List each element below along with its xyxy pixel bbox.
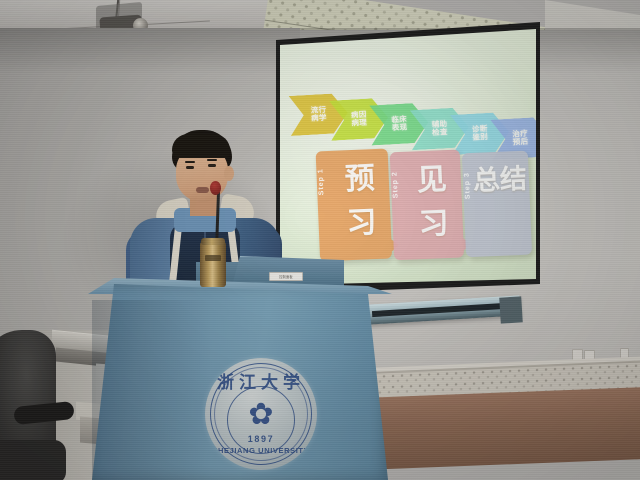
thermos-cap — [201, 238, 225, 245]
speaker-eyebrow-left — [185, 161, 195, 163]
foreground-chair-base — [0, 440, 66, 480]
thermos-band — [205, 255, 221, 261]
process-step-1-line2: 病学 — [311, 113, 327, 123]
step-card-1-title: 预习 — [332, 157, 390, 247]
process-step-2-line2: 病理 — [351, 118, 367, 128]
process-step-3-line2: 表现 — [392, 122, 408, 132]
emblem-founding-year: 1897 — [205, 434, 317, 444]
emblem-bird-icon: ✿ — [239, 400, 283, 434]
speaker-mouth — [196, 187, 209, 193]
step-card-3-label: Step 3 — [463, 151, 472, 199]
podium-shading — [92, 300, 212, 480]
microphone-head — [210, 181, 221, 195]
speaker-eye-right — [208, 164, 216, 167]
step-card-3-title: 总结 — [472, 159, 528, 201]
speaker-eye-left — [186, 166, 194, 169]
university-emblem: 浙江大学 ✿ 1897 ZHEJIANG UNIVERSITY — [205, 358, 317, 470]
emblem-english-name: ZHEJIANG UNIVERSITY — [205, 446, 317, 455]
step-card-2-title: 见习 — [404, 158, 462, 248]
process-step-4-line2: 检查 — [432, 127, 448, 137]
photo-scene: 流行 病学 病因 病理 临床 表现 辅助 检查 诊断 鉴别 — [0, 0, 640, 480]
podium-plate-text: 控制面板 — [279, 274, 293, 279]
whiteboard-rail-endcap — [499, 296, 523, 323]
thermos-flask — [200, 241, 226, 287]
podium-control-plate[interactable]: 控制面板 — [269, 272, 303, 281]
slide-step-cards: Step 1 预习 Step 2 见习 Step 3 总结 — [316, 143, 533, 272]
projection-screen: 流行 病学 病因 病理 临床 表现 辅助 检查 诊断 鉴别 — [280, 27, 536, 285]
speaker-eyebrow-right — [207, 159, 217, 161]
slide-process-row: 流行 病学 病因 病理 临床 表现 辅助 检查 诊断 鉴别 — [288, 78, 536, 154]
speaker-ear — [224, 166, 234, 181]
step-card-3: Step 3 总结 — [462, 151, 532, 258]
speaker-fringe — [172, 134, 230, 158]
step-card-2: Step 2 见习 — [390, 149, 464, 260]
process-step-5-line2: 鉴别 — [472, 132, 488, 142]
step-card-2-label: Step 2 — [391, 150, 400, 198]
step-card-1-label: Step 1 — [316, 147, 325, 195]
step-card-1: Step 1 预习 — [316, 148, 393, 261]
laptop-lid[interactable] — [232, 256, 344, 286]
